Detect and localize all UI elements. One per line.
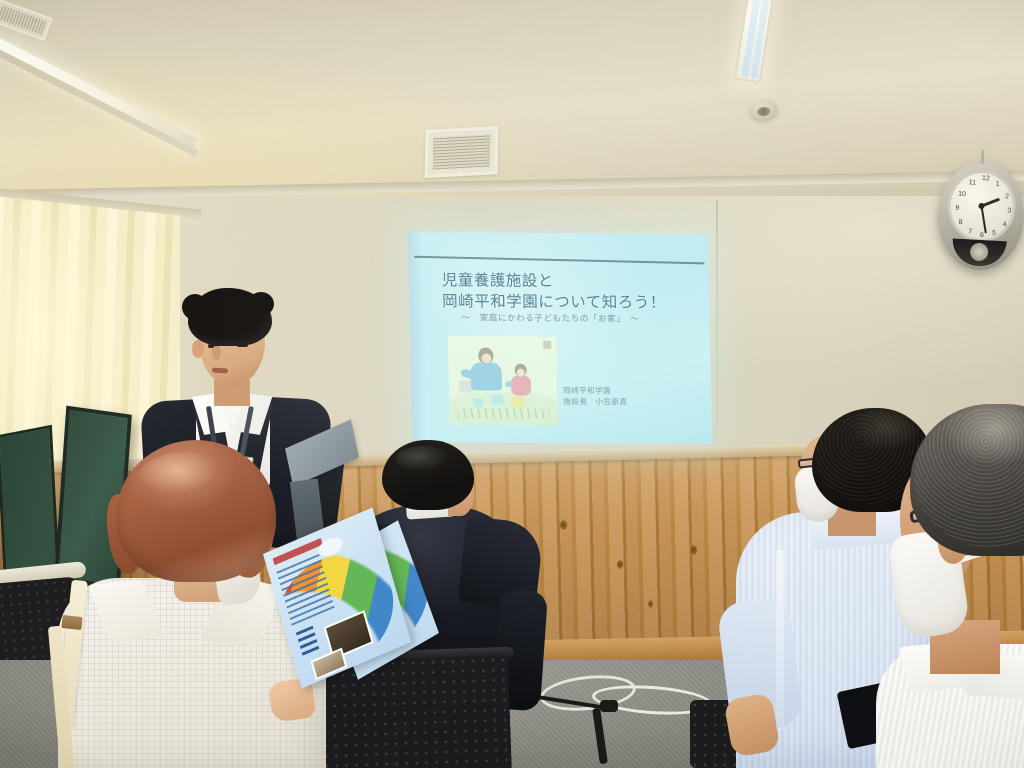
- photo-scene: 12 1 2 3 4 5 6 7 8 9 10 11 児童養護施設: [0, 0, 1024, 768]
- vent-mesh: [433, 134, 490, 169]
- slide-credit-line-2: 施設長 小笠原真: [563, 396, 693, 408]
- shirt-placket: [776, 550, 784, 730]
- presenter-mouth: [212, 367, 228, 373]
- floor-cable-connector: [600, 700, 618, 712]
- hair-sheen: [136, 452, 236, 512]
- illustration-corner-mark: [543, 341, 551, 349]
- wood-knot: [617, 560, 623, 569]
- bag-strap-clip: [61, 615, 82, 630]
- clock-face: 12 1 2 3 4 5 6 7 8 9 10 11: [946, 168, 1018, 243]
- presenter-nose: [212, 346, 221, 360]
- clock-pendulum-disc: [970, 242, 989, 261]
- wood-knot: [560, 520, 567, 530]
- green-chalkboard-panel-back: [0, 425, 60, 586]
- presenter-ear: [192, 340, 204, 358]
- presenter-hair-tuft: [182, 294, 208, 320]
- illustration-projection-wash: [448, 336, 558, 425]
- clock-numerals: 12 1 2 3 4 5 6 7 8 9 10 11: [949, 171, 1014, 240]
- attendee-right-front: [916, 404, 1024, 768]
- slide-illustration: [448, 336, 558, 425]
- presenter-hair-tuft: [248, 292, 274, 316]
- attendee-center-hair-sheen: [396, 446, 450, 472]
- ceiling-air-vent-icon: [425, 126, 499, 178]
- slide-subtitle: ～ 家庭にかわる子どもたちの「お家」 ～: [461, 311, 691, 325]
- wood-knot: [690, 545, 697, 555]
- projection-screen: 児童養護施設と 岡崎平和学園について知ろう！ ～ 家庭にかわる子どもたちの「お家…: [408, 232, 713, 444]
- wood-knot: [648, 600, 653, 608]
- slide-credit-line-1: 岡崎平和学園: [563, 385, 693, 397]
- slide-credit: 岡崎平和学園 施設長 小笠原真: [563, 385, 694, 409]
- wall-panel-seam: [716, 200, 718, 460]
- slide-title: 児童養護施設と 岡崎平和学園について知ろう！: [442, 270, 693, 314]
- slide-title-line-1: 児童養護施設と: [442, 271, 554, 290]
- wall-clock: 12 1 2 3 4 5 6 7 8 9 10 11: [935, 160, 1024, 272]
